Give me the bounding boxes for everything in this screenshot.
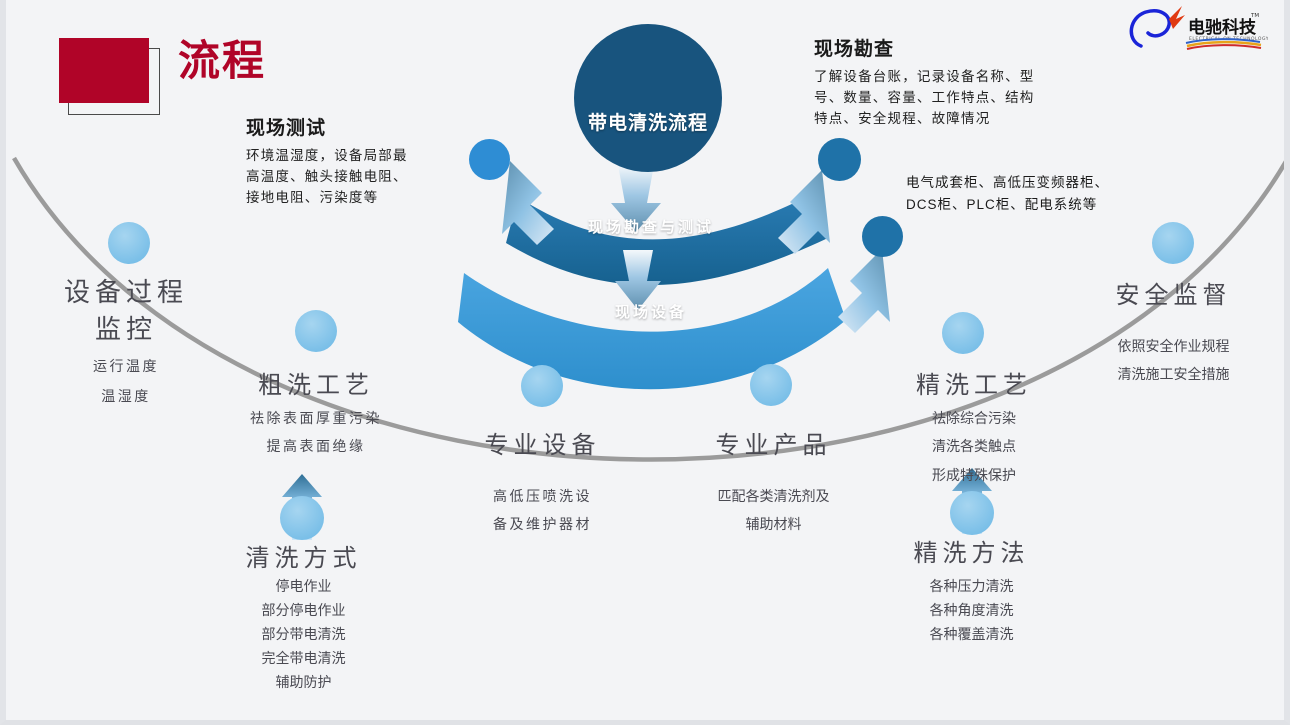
company-logo: 电驰科技 ELECTRICAL ON TECHNOLOGY TM [1123,4,1268,52]
node-professional-products-sub-2: 辅助材料 [661,514,886,534]
node-safety-supervision-title: 安全监督 [1071,275,1276,310]
callout-site-survey: 现场勘查 了解设备台账，记录设备名称、型 号、数量、容量、工作特点、结构 特点、… [814,34,1124,130]
node-professional-equipment-sub-2: 备及维护器材 [430,514,655,534]
node-fine-cleaning-method-title: 精洗方法 [864,533,1079,568]
node-rough-cleaning-process-sub-2: 提高表面绝缘 [196,436,436,456]
callout-site-survey-line-2: 号、数量、容量、工作特点、结构 [814,88,1124,109]
callout-field-test-line-2: 高温度、触头接触电阻、 [246,167,476,188]
banner-label-survey: 现场勘查与测试 [6,216,1290,237]
node-safety-supervision-sub-2: 清洗施工安全措施 [1071,364,1276,384]
arrow-upright-survey [778,170,830,254]
callout-field-test-line-1: 环境温湿度，设备局部最 [246,146,476,167]
callout-site-survey-heading: 现场勘查 [814,34,1124,61]
node-cleaning-method-sub-3: 部分带电清洗 [196,624,411,645]
node-cleaning-method-sub-4: 完全带电清洗 [196,648,411,669]
note-cabinet-types-line-2: DCS柜、PLC柜、配电系统等 [906,194,1206,216]
svg-text:TM: TM [1250,13,1259,19]
node-professional-equipment: 专业设备 高低压喷洗设 备及维护器材 [430,425,655,535]
svg-text:电驰科技: 电驰科技 [1188,17,1257,38]
slide-canvas: 流程 电驰科技 ELECTRICAL ON TECHNOLOGY TM 带电清洗… [0,0,1290,725]
node-cleaning-method: 清洗方式 停电作业 部分停电作业 部分带电清洗 完全带电清洗 辅助防护 [196,538,411,693]
arc-node-3 [521,365,563,407]
node-cleaning-method-sub-1: 停电作业 [196,576,411,597]
callout-field-test-line-3: 接地电阻、污染度等 [246,188,476,209]
arrow-up-cleaning-method [282,474,322,540]
callout-field-test-heading: 现场测试 [246,113,476,140]
callout-site-survey-line-3: 特点、安全规程、故障情况 [814,109,1124,130]
node-fine-cleaning-method-sub-3: 各种覆盖清洗 [864,624,1079,645]
node-professional-equipment-sub-1: 高低压喷洗设 [430,486,655,506]
node-fine-cleaning-process: 精洗工艺 祛除综合污染 清洗各类触点 形成特殊保护 [854,365,1094,485]
node-equipment-monitoring-title-1: 设备过程 [26,272,226,309]
page-title: 流程 [178,40,266,82]
node-safety-supervision: 安全监督 依照安全作业规程 清洗施工安全措施 [1071,275,1276,385]
title-red-box [59,38,149,103]
node-professional-equipment-title: 专业设备 [430,425,655,460]
node-equipment-monitoring-title-2: 监控 [26,309,226,346]
node-safety-supervision-sub-1: 依照安全作业规程 [1071,336,1276,356]
node-cleaning-method-title: 清洗方式 [196,538,411,573]
branch-node-cleaning-method [280,496,324,540]
node-rough-cleaning-process: 粗洗工艺 祛除表面厚重污染 提高表面绝缘 [196,365,436,457]
node-fine-cleaning-method-sub-2: 各种角度清洗 [864,600,1079,621]
hub-circle: 带电清洗流程 [574,24,722,172]
node-fine-cleaning-process-sub-3: 形成特殊保护 [854,465,1094,485]
node-cleaning-method-sub-5: 辅助防护 [196,672,411,693]
node-fine-cleaning-process-sub-2: 清洗各类触点 [854,436,1094,456]
accent-dot-right-upper [818,138,861,181]
branch-node-fine-method [950,491,994,535]
callout-field-test: 现场测试 环境温湿度，设备局部最 高温度、触头接触电阻、 接地电阻、污染度等 [246,113,476,209]
node-cleaning-method-sub-2: 部分停电作业 [196,600,411,621]
node-fine-cleaning-process-sub-1: 祛除综合污染 [854,408,1094,428]
banner-shape-survey [506,194,828,285]
node-rough-cleaning-process-title: 粗洗工艺 [196,365,436,400]
node-professional-products-title: 专业产品 [661,425,886,460]
arc-node-4 [750,364,792,406]
banner-shape-equipment [458,268,846,389]
node-fine-cleaning-process-title: 精洗工艺 [854,365,1094,400]
hub-label: 带电清洗流程 [574,108,722,135]
callout-site-survey-line-1: 了解设备台账，记录设备名称、型 [814,67,1124,88]
node-fine-cleaning-method: 精洗方法 各种压力清洗 各种角度清洗 各种覆盖清洗 [864,533,1079,645]
node-professional-products-sub-1: 匹配各类清洗剂及 [661,486,886,506]
node-professional-products: 专业产品 匹配各类清洗剂及 辅助材料 [661,425,886,535]
node-fine-cleaning-method-sub-1: 各种压力清洗 [864,576,1079,597]
node-rough-cleaning-process-sub-1: 祛除表面厚重污染 [196,408,436,428]
note-cabinet-types: 电气成套柜、高低压变频器柜、 DCS柜、PLC柜、配电系统等 [906,172,1206,217]
note-cabinet-types-line-1: 电气成套柜、高低压变频器柜、 [906,172,1206,194]
